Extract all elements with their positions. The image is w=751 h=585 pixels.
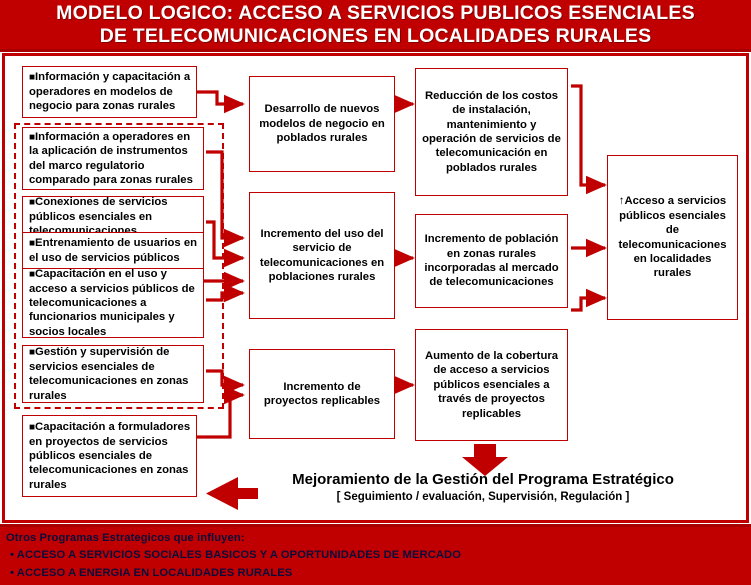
impact-label: Acceso a servicios públicos esenciales d… xyxy=(619,195,727,279)
activity-label-7: Capacitación a formuladores en proyectos… xyxy=(29,421,190,491)
product-label-3: Incremento de proyectos replicables xyxy=(256,380,388,409)
footer-item-1: • ACCESO A SERVICIOS SOCIALES BASICOS Y … xyxy=(6,547,745,564)
impact-box[interactable]: ↑Acceso a servicios públicos esenciales … xyxy=(607,155,738,320)
activity-box-7[interactable]: ■Capacitación a formuladores en proyecto… xyxy=(22,415,197,497)
footer-heading: Otros Programas Estrategicos que influye… xyxy=(6,530,745,547)
diagram-root: MODELO LOGICO: ACCESO A SERVICIOS PUBLIC… xyxy=(0,0,751,585)
activity-box-4[interactable]: ■Entrenamiento de usuarios en el uso de … xyxy=(22,232,204,269)
activity-label-5: Capacitación en el uso y acceso a servic… xyxy=(29,268,195,338)
footer-item-2: • ACCESO A ENERGIA EN LOCALIDADES RURALE… xyxy=(6,565,745,582)
activity-label-4: Entrenamiento de usuarios en el uso de s… xyxy=(29,237,197,264)
caption-sub-text: [ Seguimiento / evaluación, Supervisión,… xyxy=(248,491,718,503)
caption-block: Mejoramiento de la Gestión del Programa … xyxy=(248,471,718,503)
result-label-2: Incremento de población en zonas rurales… xyxy=(422,232,561,289)
product-label-2: Incremento del uso del servicio de telec… xyxy=(256,227,388,284)
activity-box-2[interactable]: ■Información a operadores en la aplicaci… xyxy=(22,127,204,190)
product-box-1[interactable]: Desarrollo de nuevos modelos de negocio … xyxy=(249,76,395,172)
product-box-3[interactable]: Incremento de proyectos replicables xyxy=(249,349,395,439)
activity-box-1[interactable]: ■Información y capacitación a operadores… xyxy=(22,66,197,118)
footer-band: Otros Programas Estrategicos que influye… xyxy=(0,524,751,585)
result-box-3[interactable]: Aumento de la cobertura de acceso a serv… xyxy=(415,329,568,441)
result-label-1: Reducción de los costos de instalación, … xyxy=(422,89,561,175)
activity-label-3: Conexiones de servicios públicos esencia… xyxy=(29,196,168,237)
product-box-2[interactable]: Incremento del uso del servicio de telec… xyxy=(249,192,395,319)
activity-box-6[interactable]: ■Gestión y supervisión de servicios esen… xyxy=(22,345,204,403)
result-label-3: Aumento de la cobertura de acceso a serv… xyxy=(422,349,561,421)
caption-main-text: Mejoramiento de la Gestión del Programa … xyxy=(248,471,718,489)
activity-box-5[interactable]: ■Capacitación en el uso y acceso a servi… xyxy=(22,268,204,338)
result-box-2[interactable]: Incremento de población en zonas rurales… xyxy=(415,214,568,308)
title-line-1: MODELO LOGICO: ACCESO A SERVICIOS PUBLIC… xyxy=(56,2,695,25)
title-line-2: DE TELECOMUNICACIONES EN LOCALIDADES RUR… xyxy=(100,25,652,48)
title-banner: MODELO LOGICO: ACCESO A SERVICIOS PUBLIC… xyxy=(0,0,751,52)
result-box-1[interactable]: Reducción de los costos de instalación, … xyxy=(415,68,568,196)
activity-label-2: Información a operadores en la aplicació… xyxy=(29,131,193,186)
activity-label-6: Gestión y supervisión de servicios esenc… xyxy=(29,346,188,401)
activity-box-3[interactable]: ■Conexiones de servicios públicos esenci… xyxy=(22,196,204,237)
activity-label-1: Información y capacitación a operadores … xyxy=(29,71,190,112)
product-label-1: Desarrollo de nuevos modelos de negocio … xyxy=(256,102,388,145)
